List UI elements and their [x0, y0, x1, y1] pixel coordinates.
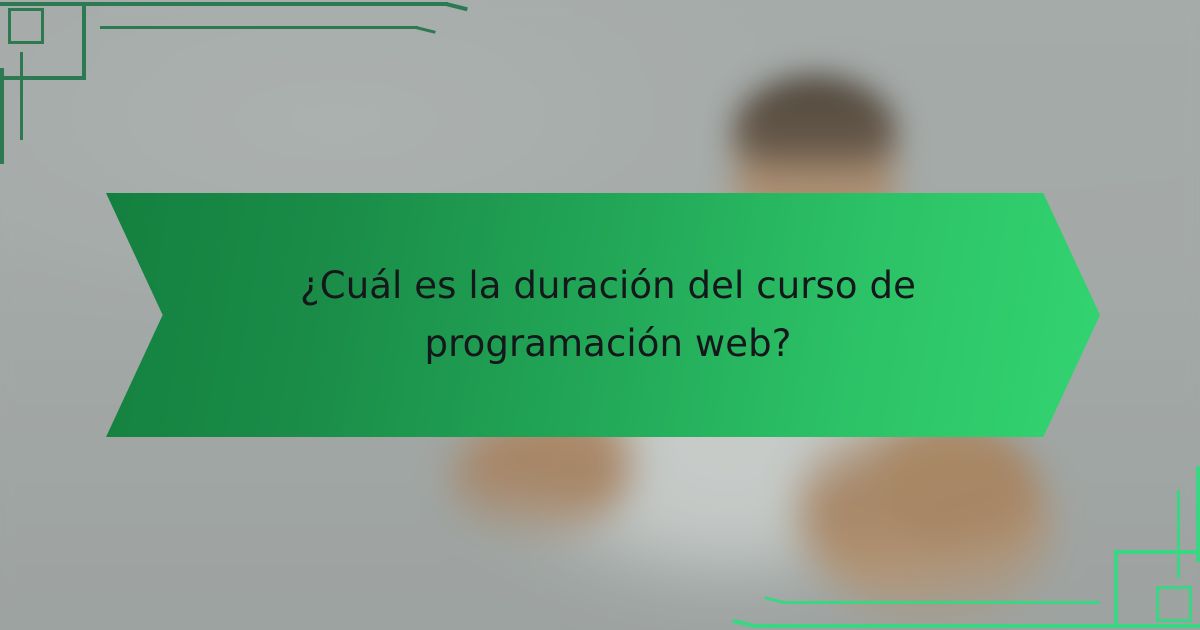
corner-inner-vertical-line — [20, 52, 23, 140]
corner-inner-vertical-line — [1177, 490, 1180, 578]
poster-canvas: ¿Cuál es la duración del curso de progra… — [0, 0, 1200, 630]
corner-inner-horizontal-line — [100, 26, 418, 29]
corner-inner-horizontal-line — [782, 601, 1100, 604]
corner-outer-horizontal-line — [752, 624, 1122, 628]
corner-frame-top-left — [0, 0, 180, 165]
corner-outer-horizontal-line — [78, 2, 448, 6]
headline-text: ¿Cuál es la duración del curso de progra… — [238, 257, 968, 373]
headline-ribbon: ¿Cuál es la duración del curso de progra… — [106, 193, 1100, 437]
corner-frame-bottom-right — [1020, 465, 1200, 630]
